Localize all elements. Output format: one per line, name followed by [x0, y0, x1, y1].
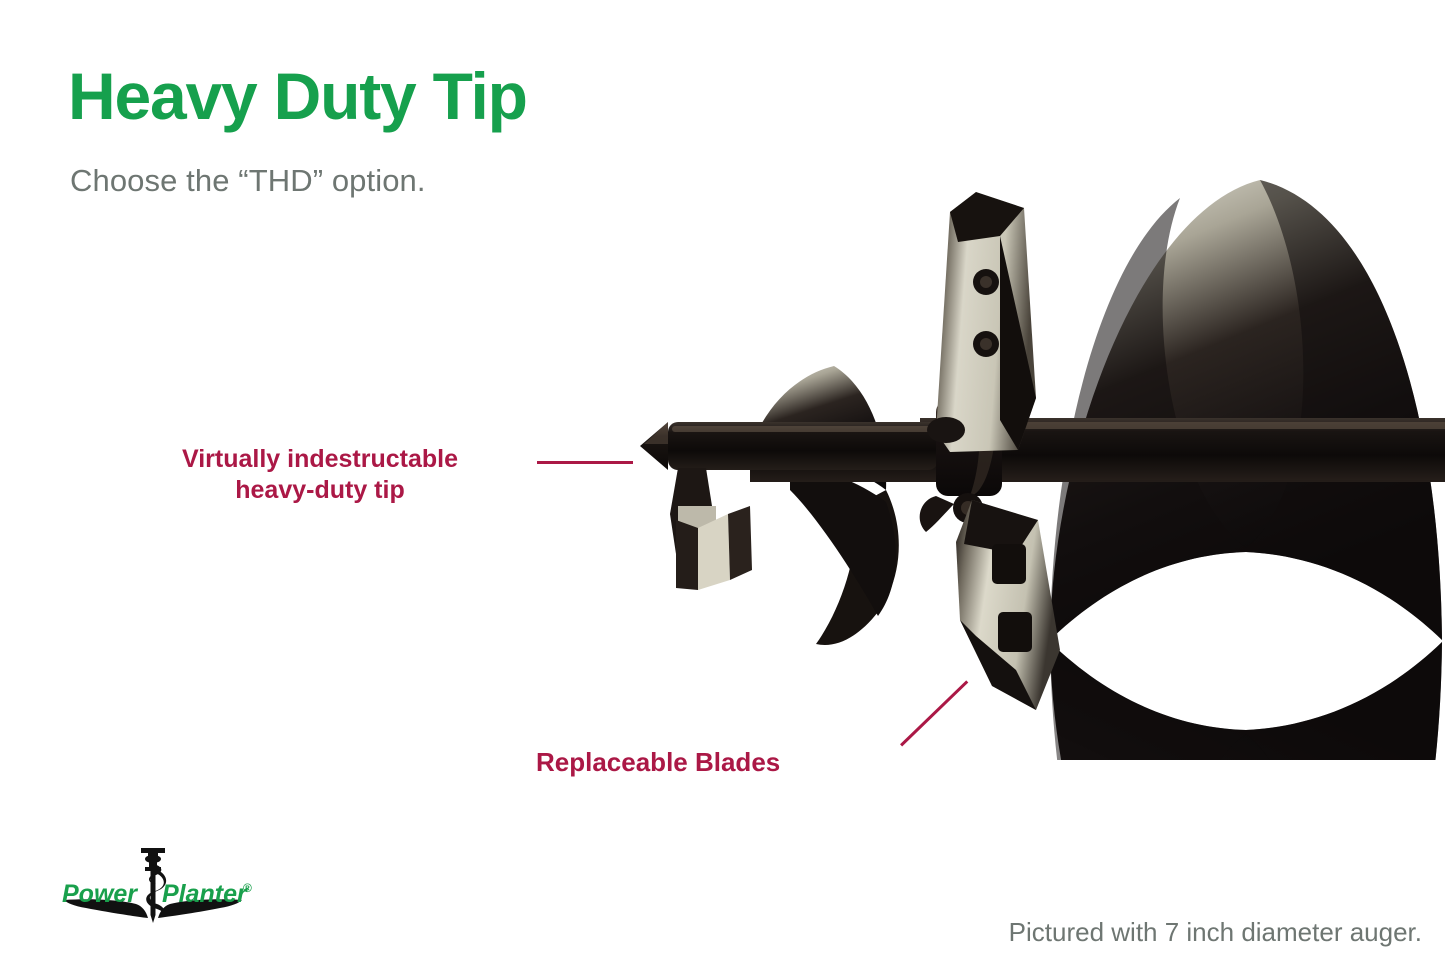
auger-tip-shaft: [640, 422, 938, 470]
blade-bolt: [992, 544, 1026, 584]
blade-bolt: [998, 612, 1032, 652]
replaceable-blade-lower: [956, 500, 1060, 710]
callout-heavy-duty-tip: Virtually indestructable heavy-duty tip: [110, 444, 530, 507]
callout-replaceable-blades: Replaceable Blades: [536, 746, 780, 779]
power-planter-logo: Power Planter ®: [62, 846, 262, 924]
photo-caption: Pictured with 7 inch diameter auger.: [1009, 917, 1422, 948]
tip-cutting-spur: [670, 468, 752, 590]
logo-word-power: Power: [62, 880, 138, 908]
leader-line-tip: [537, 461, 633, 464]
page-title: Heavy Duty Tip: [68, 62, 527, 131]
product-photo: [620, 150, 1445, 760]
blade-mount-bolt: [927, 417, 965, 443]
replaceable-blade-upper: [927, 192, 1036, 452]
auger-flighting-right: [1050, 180, 1442, 640]
callout-tip-line-1: Virtually indestructable: [110, 444, 530, 475]
logo-registered-mark: ®: [243, 881, 252, 895]
marketing-slide: Heavy Duty Tip Choose the “THD” option.: [0, 0, 1445, 964]
callout-tip-line-2: heavy-duty tip: [110, 475, 530, 506]
page-subtitle: Choose the “THD” option.: [70, 163, 426, 199]
auger-flighting-right-lower: [1050, 642, 1442, 760]
logo-word-planter: Planter: [162, 880, 248, 908]
